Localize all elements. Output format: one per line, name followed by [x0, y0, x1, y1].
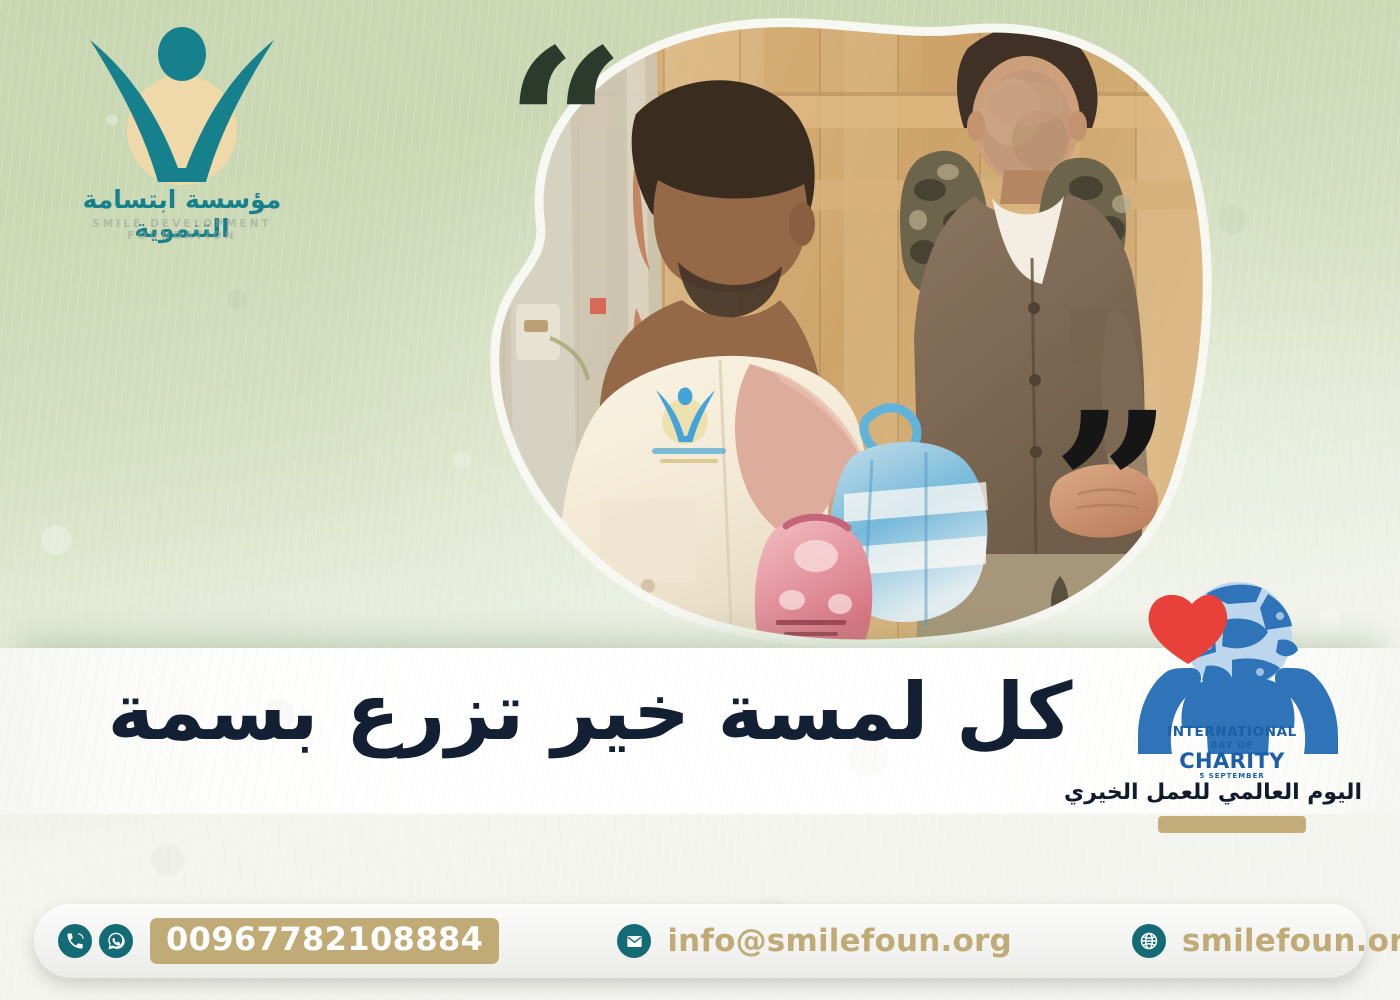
foundation-name-latin: SMILE DEVELOPMENT FOUNDATION	[48, 218, 316, 242]
globe-icon[interactable]	[1132, 924, 1166, 958]
smile-foundation-checkmark-person-logo-icon	[82, 22, 282, 187]
page-title: كل لمسة خير تزرع بسمة	[60, 666, 1120, 758]
website-url[interactable]: smilefoun.org	[1182, 923, 1400, 959]
contact-website[interactable]: smilefoun.org	[1132, 904, 1400, 978]
quote-close-icon: ”	[1052, 385, 1173, 595]
charity-day-line-3: CHARITY	[1110, 751, 1354, 772]
charity-day-wordmark: INTERNATIONAL DAY OF CHARITY 5 SEPTEMBER	[1110, 726, 1354, 780]
gold-divider-bar	[1158, 816, 1306, 833]
whatsapp-icon[interactable]	[99, 924, 133, 958]
quote-open-icon: “	[505, 22, 626, 232]
contact-bar: 00967782108884 info@smilefoun.org	[34, 904, 1366, 978]
international-day-of-charity-logo: INTERNATIONAL DAY OF CHARITY 5 SEPTEMBER…	[1110, 568, 1354, 840]
envelope-icon[interactable]	[617, 924, 651, 958]
phone-icon[interactable]	[58, 924, 92, 958]
charity-day-line-1: INTERNATIONAL	[1110, 726, 1354, 740]
charity-day-line-4: 5 SEPTEMBER	[1110, 773, 1354, 780]
charity-poster: مؤسسة ابتسامة التنموية SMILE DEVELOPMENT…	[0, 0, 1400, 1000]
charity-day-caption-arabic: اليوم العالمي للعمل الخيري	[1102, 780, 1362, 805]
email-address[interactable]: info@smilefoun.org	[667, 923, 1012, 959]
contact-phone[interactable]: 00967782108884	[34, 904, 499, 978]
phone-number[interactable]: 00967782108884	[150, 918, 499, 964]
foundation-logo: مؤسسة ابتسامة التنموية SMILE DEVELOPMENT…	[48, 22, 316, 234]
contact-email[interactable]: info@smilefoun.org	[617, 904, 1012, 978]
